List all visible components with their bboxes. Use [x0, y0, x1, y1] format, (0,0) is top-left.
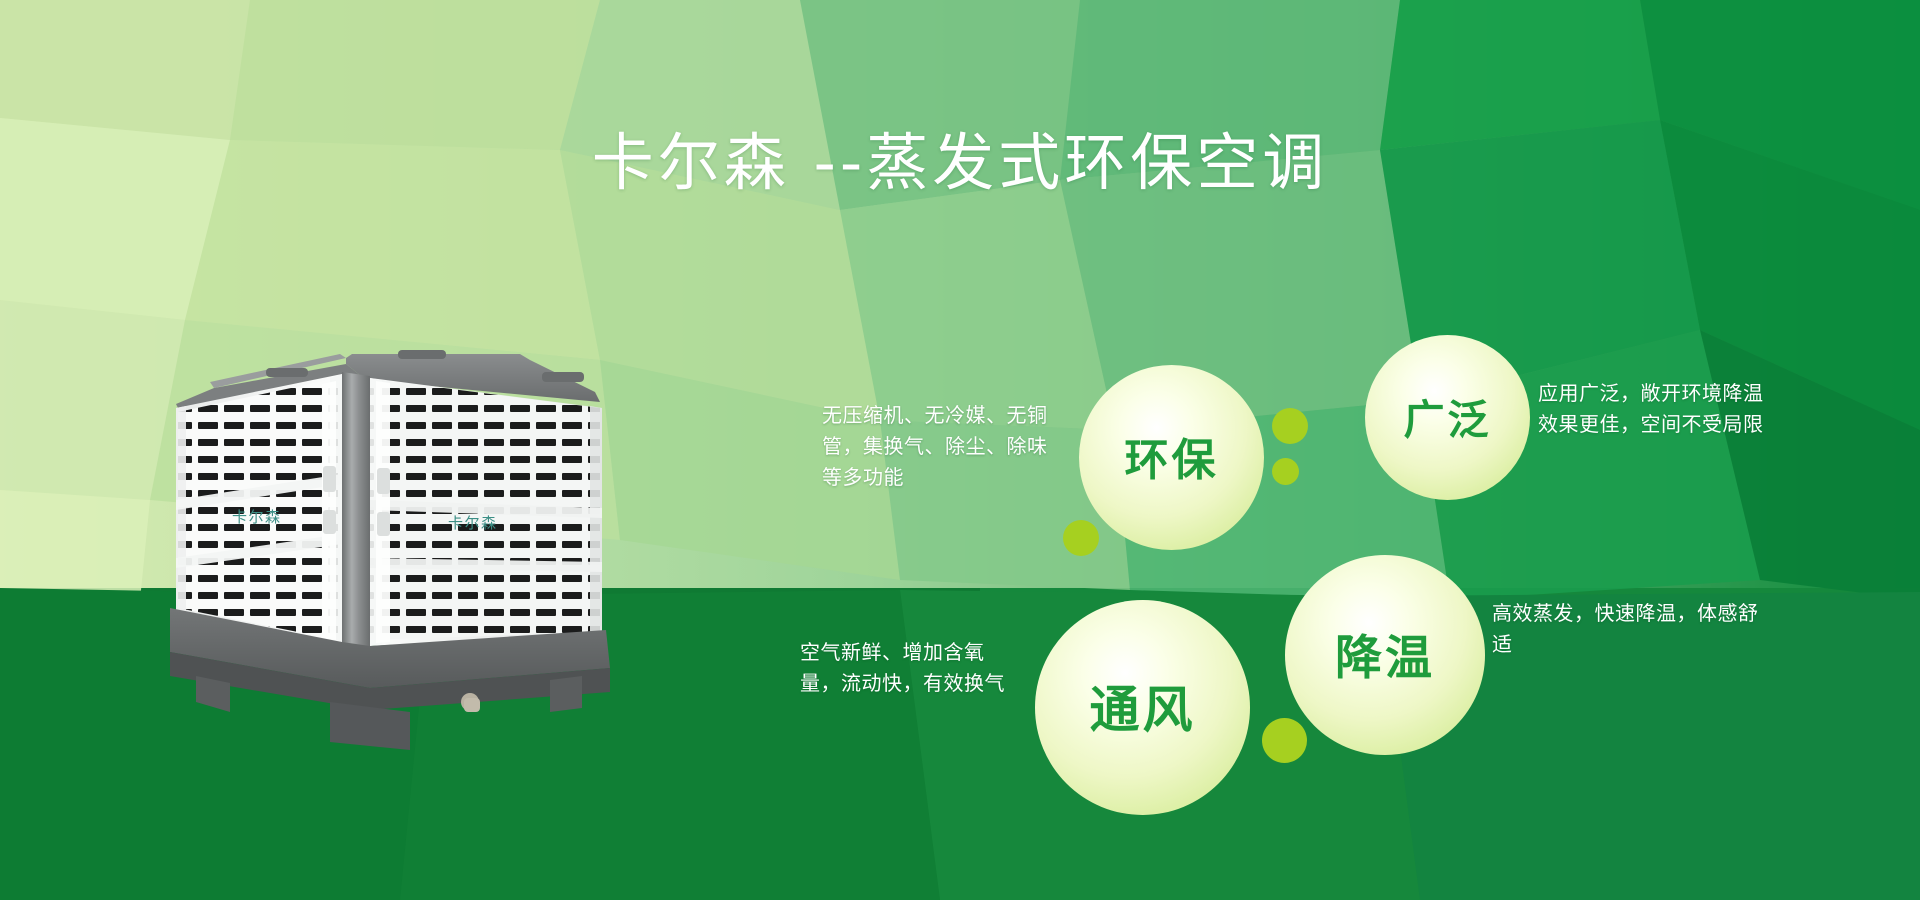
promo-banner: 卡尔森 --蒸发式环保空调	[0, 0, 1920, 900]
feature-caption-tongfeng: 空气新鲜、增加含氧量，流动快，有效换气	[800, 637, 1022, 699]
air-cooler-illustration: 卡尔森 卡尔森	[170, 350, 690, 770]
feature-bubble-huanbao: 环保	[1079, 365, 1264, 550]
product-brand-label-right: 卡尔森	[448, 514, 498, 532]
product-image: 卡尔森 卡尔森	[170, 350, 690, 770]
feature-bubble-label: 环保	[1125, 424, 1219, 488]
feature-bubble-label: 通风	[1090, 670, 1196, 742]
page-title: 卡尔森 --蒸发式环保空调	[0, 130, 1920, 195]
feature-caption-huanbao: 无压缩机、无冷媒、无铜管，集换气、除尘、除味等多功能	[822, 400, 1054, 493]
feature-caption-jiangwen: 高效蒸发，快速降温，体感舒适	[1492, 598, 1762, 660]
decorative-dot-icon	[1272, 458, 1299, 485]
feature-bubble-tongfeng: 通风	[1035, 600, 1250, 815]
decorative-dot-icon	[1262, 718, 1307, 763]
product-brand-label-left: 卡尔森	[232, 508, 282, 526]
decorative-dot-icon	[1272, 408, 1308, 444]
feature-bubble-jiangwen: 降温	[1285, 555, 1485, 755]
decorative-dot-icon	[1063, 520, 1099, 556]
feature-bubble-label: 降温	[1335, 619, 1435, 688]
feature-bubble-label: 广泛	[1404, 386, 1492, 446]
feature-bubble-guangfan: 广泛	[1365, 335, 1530, 500]
feature-caption-guangfan: 应用广泛，敞开环境降温效果更佳，空间不受局限	[1538, 378, 1778, 440]
